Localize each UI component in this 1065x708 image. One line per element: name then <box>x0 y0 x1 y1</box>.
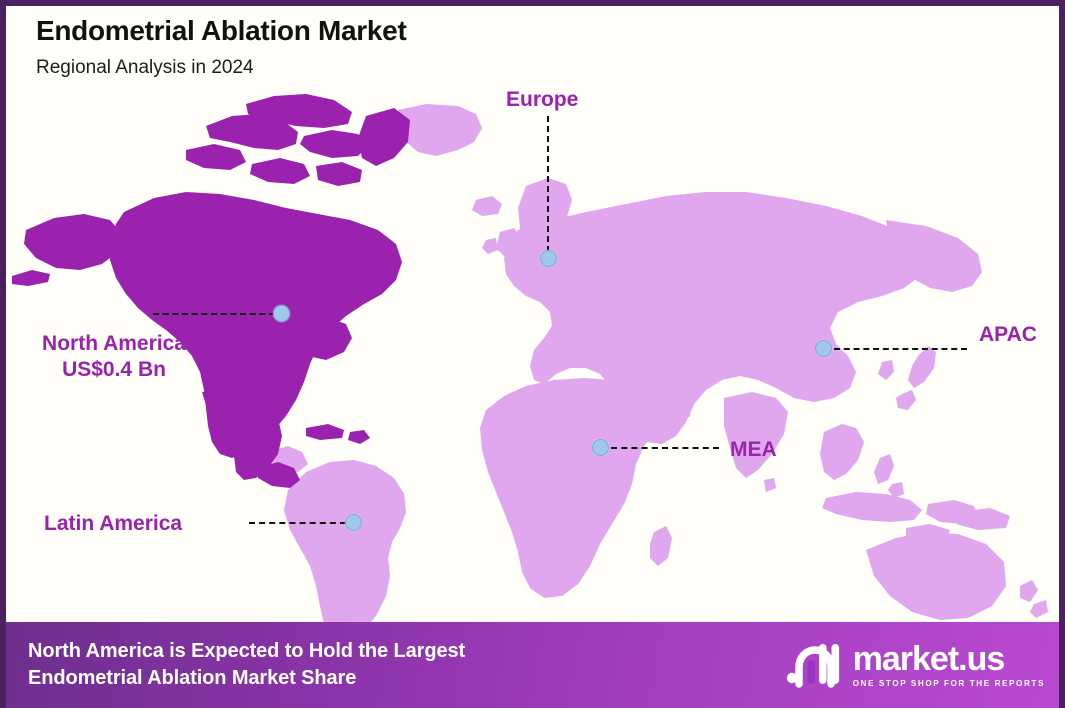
logo-tagline: ONE STOP SHOP FOR THE REPORTS <box>853 680 1045 688</box>
map-regions-other <box>268 104 1048 625</box>
marker-europe[interactable] <box>540 250 557 267</box>
infographic-root: Endometrial Ablation Market Regional Ana… <box>0 0 1065 708</box>
leader-line-north-america <box>153 313 275 315</box>
region-name-north-america: North America <box>42 332 186 355</box>
region-name-mea: MEA <box>730 438 777 461</box>
banner-headline-line1: North America is Expected to Hold the La… <box>28 638 465 665</box>
region-name-apac: APAC <box>979 323 1037 346</box>
banner-headline: North America is Expected to Hold the La… <box>28 638 465 692</box>
map-region-north-america <box>12 94 410 488</box>
leader-line-apac <box>834 348 967 350</box>
marker-north-america[interactable] <box>273 305 290 322</box>
marker-mea[interactable] <box>592 439 609 456</box>
region-label-north-america: North America US$0.4 Bn <box>20 331 208 384</box>
market-us-logo-icon <box>785 640 843 690</box>
bottom-banner: North America is Expected to Hold the La… <box>6 622 1065 708</box>
brand-logo[interactable]: market.us ONE STOP SHOP FOR THE REPORTS <box>785 640 1045 690</box>
leader-line-latin-america <box>249 522 346 524</box>
leader-line-mea <box>611 447 719 449</box>
marker-latin-america[interactable] <box>345 514 362 531</box>
logo-wordmark: market.us <box>853 642 1045 676</box>
region-name-europe: Europe <box>506 88 578 111</box>
header: Endometrial Ablation Market Regional Ana… <box>36 14 406 79</box>
region-value-north-america: US$0.4 Bn <box>20 357 208 383</box>
region-label-latin-america: Latin America <box>44 511 182 537</box>
banner-headline-line2: Endometrial Ablation Market Share <box>28 665 465 692</box>
region-label-mea: MEA <box>730 437 777 463</box>
region-label-apac: APAC <box>979 322 1037 348</box>
marker-apac[interactable] <box>815 340 832 357</box>
region-name-latin-america: Latin America <box>44 512 182 535</box>
leader-line-europe <box>547 116 549 252</box>
logo-text-group: market.us ONE STOP SHOP FOR THE REPORTS <box>853 642 1045 688</box>
page-title: Endometrial Ablation Market <box>36 14 406 48</box>
region-label-europe: Europe <box>506 87 578 113</box>
page-subtitle: Regional Analysis in 2024 <box>36 57 406 79</box>
